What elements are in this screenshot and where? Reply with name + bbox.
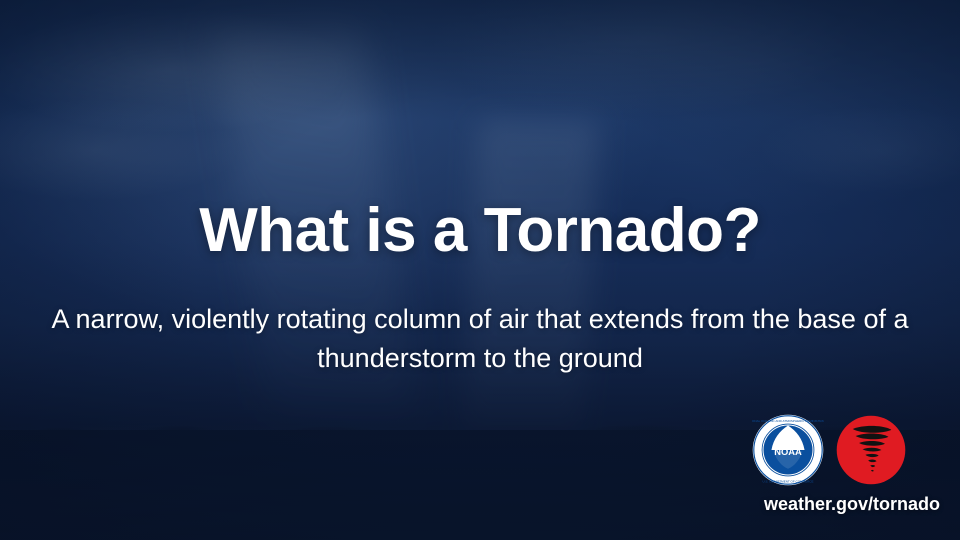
noaa-ring-text-bottom: U.S. DEPARTMENT OF COMMERCE: [763, 479, 814, 483]
slide: What is a Tornado? A narrow, violently r…: [0, 0, 960, 540]
noaa-center-text: NOAA: [774, 447, 802, 457]
slide-subtitle: A narrow, violently rotating column of a…: [30, 300, 930, 378]
weather-gov-url[interactable]: weather.gov/tornado: [640, 494, 940, 515]
noaa-seal-icon: NOAA NATIONAL OCEANIC AND ATMOSPHERIC AD…: [752, 414, 824, 486]
tornado-badge-icon: [836, 415, 906, 485]
noaa-ring-text-top: NATIONAL OCEANIC AND ATMOSPHERIC ADMINIS…: [752, 419, 824, 423]
slide-content: What is a Tornado? A narrow, violently r…: [0, 0, 960, 540]
logo-group: NOAA NATIONAL OCEANIC AND ATMOSPHERIC AD…: [752, 414, 932, 494]
slide-title: What is a Tornado?: [0, 198, 960, 263]
